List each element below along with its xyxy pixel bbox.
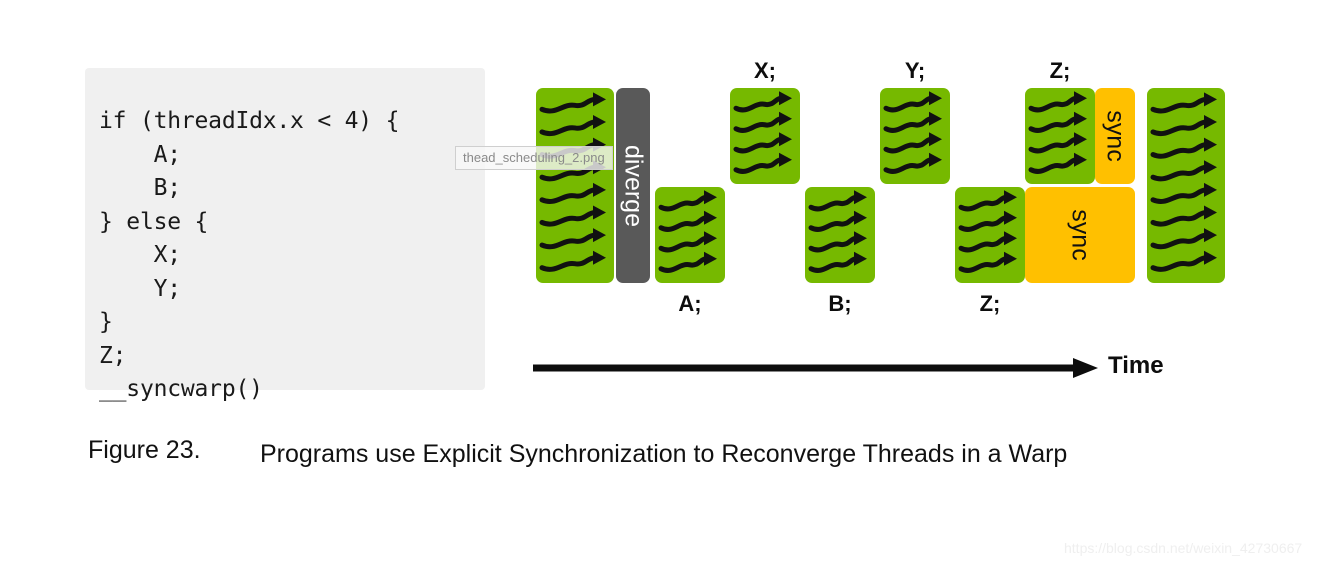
block-x-block	[730, 88, 800, 184]
instruction-label-top-2: Z;	[1025, 58, 1095, 84]
block-a-block	[655, 187, 725, 283]
warp-end-block	[1147, 88, 1225, 283]
thread-lane-arrows	[655, 187, 725, 283]
diverge-bar-block: diverge	[616, 88, 650, 283]
time-axis-arrow	[533, 358, 1098, 378]
sync-top-label: sync	[1101, 110, 1130, 161]
broken-image-alt-tooltip: thead_scheduling_2.png	[455, 146, 613, 170]
thread-lane-arrows	[1147, 88, 1225, 283]
figure-caption-text: Programs use Explicit Synchronization to…	[260, 436, 1270, 472]
thread-lane-arrows	[730, 88, 800, 184]
thread-lane-arrows	[955, 187, 1025, 283]
source-watermark: https://blog.csdn.net/weixin_42730667	[1064, 540, 1302, 556]
warp-execution-diagram: divergesyncsyncX;Y;Z;A;B;Z;	[0, 0, 1341, 400]
instruction-label-top-0: X;	[730, 58, 800, 84]
block-b-block	[805, 187, 875, 283]
thread-lane-arrows	[536, 88, 614, 283]
instruction-label-bottom-2: Z;	[955, 291, 1025, 317]
block-z-bot-block	[955, 187, 1025, 283]
block-y-block	[880, 88, 950, 184]
instruction-label-top-1: Y;	[880, 58, 950, 84]
sync-bottom-label: sync	[1066, 209, 1095, 260]
time-axis-label: Time	[1108, 352, 1164, 380]
instruction-label-bottom-1: B;	[805, 291, 875, 317]
sync-bottom-block: sync	[1025, 187, 1135, 283]
figure-caption-number: Figure 23.	[88, 436, 258, 465]
sync-top-block: sync	[1095, 88, 1135, 184]
thread-lane-arrows	[1025, 88, 1095, 184]
thread-lane-arrows	[805, 187, 875, 283]
instruction-label-bottom-0: A;	[655, 291, 725, 317]
block-z-top-block	[1025, 88, 1095, 184]
warp-start-block	[536, 88, 614, 283]
diverge-bar-label: diverge	[619, 145, 648, 227]
thread-lane-arrows	[880, 88, 950, 184]
